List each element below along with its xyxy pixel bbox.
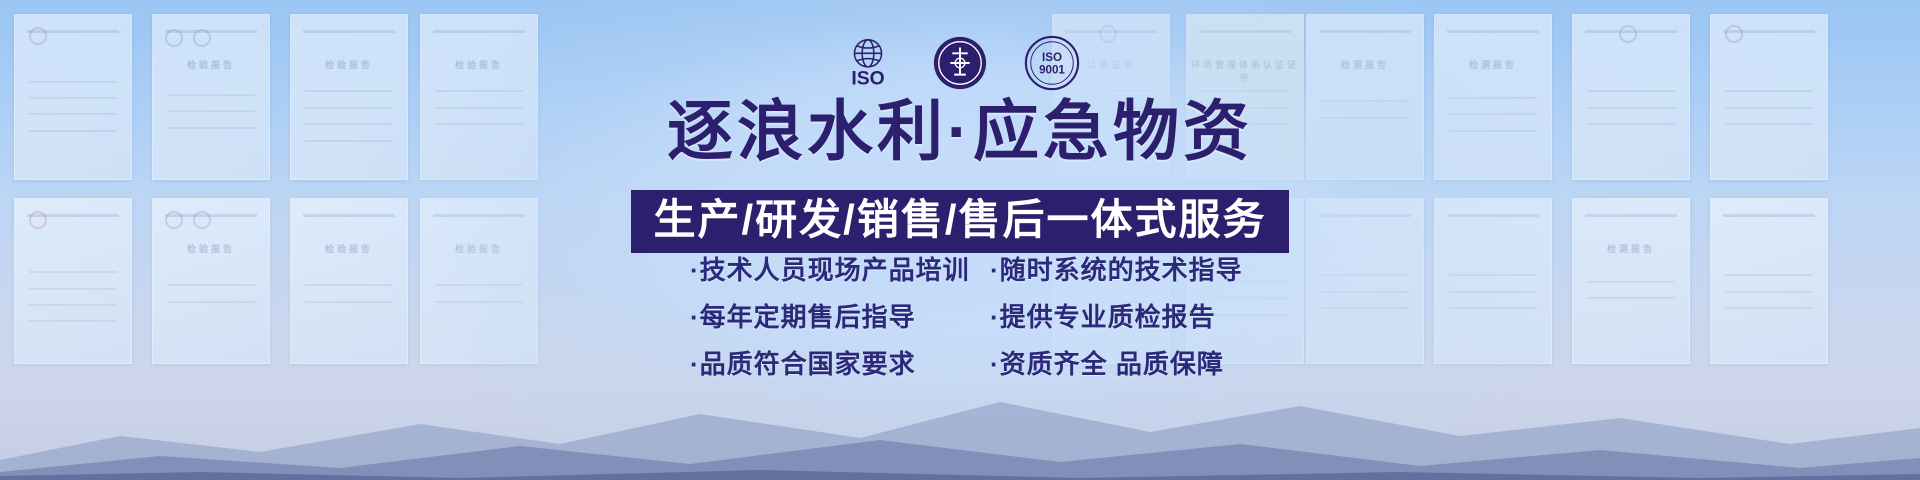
feature-bullet: ·技术人员现场产品培训 [682, 250, 960, 287]
quality-emblem-badge [931, 34, 989, 92]
feature-bullet: ·品质符合国家要求 [682, 344, 960, 381]
iso-badge-label: ISO [851, 68, 884, 89]
feature-bullet: ·资质齐全 品质保障 [960, 344, 1238, 381]
banner-subtitle-wrap: 生产/研发/销售/售后一体式服务 [0, 190, 1920, 253]
iso-badge: ISO [839, 34, 897, 92]
feature-bullet-row: ·品质符合国家要求 ·资质齐全 品质保障 [682, 344, 1238, 381]
promo-banner: 检验报告 检验报告 检验报告 认证证书 环境管理体系认证证书 检测报告 检测报告 [0, 0, 1920, 480]
banner-subtitle: 生产/研发/销售/售后一体式服务 [631, 190, 1288, 253]
feature-bullet-row: ·每年定期售后指导 ·提供专业质检报告 [682, 297, 1238, 334]
feature-bullet: ·提供专业质检报告 [960, 297, 1238, 334]
banner-title: 逐浪水利·应急物资 [0, 98, 1920, 164]
feature-bullet: ·每年定期售后指导 [682, 297, 960, 334]
certification-badges: ISO ISO 9001 [0, 34, 1920, 92]
feature-bullet-list: ·技术人员现场产品培训 ·随时系统的技术指导 ·每年定期售后指导 ·提供专业质检… [0, 250, 1920, 381]
feature-bullet-row: ·技术人员现场产品培训 ·随时系统的技术指导 [682, 250, 1238, 287]
svg-text:ISO: ISO [1042, 51, 1062, 64]
feature-bullet: ·随时系统的技术指导 [960, 250, 1238, 287]
iso-9001-cqc-badge: ISO 9001 [1023, 34, 1081, 92]
svg-text:9001: 9001 [1039, 64, 1065, 77]
